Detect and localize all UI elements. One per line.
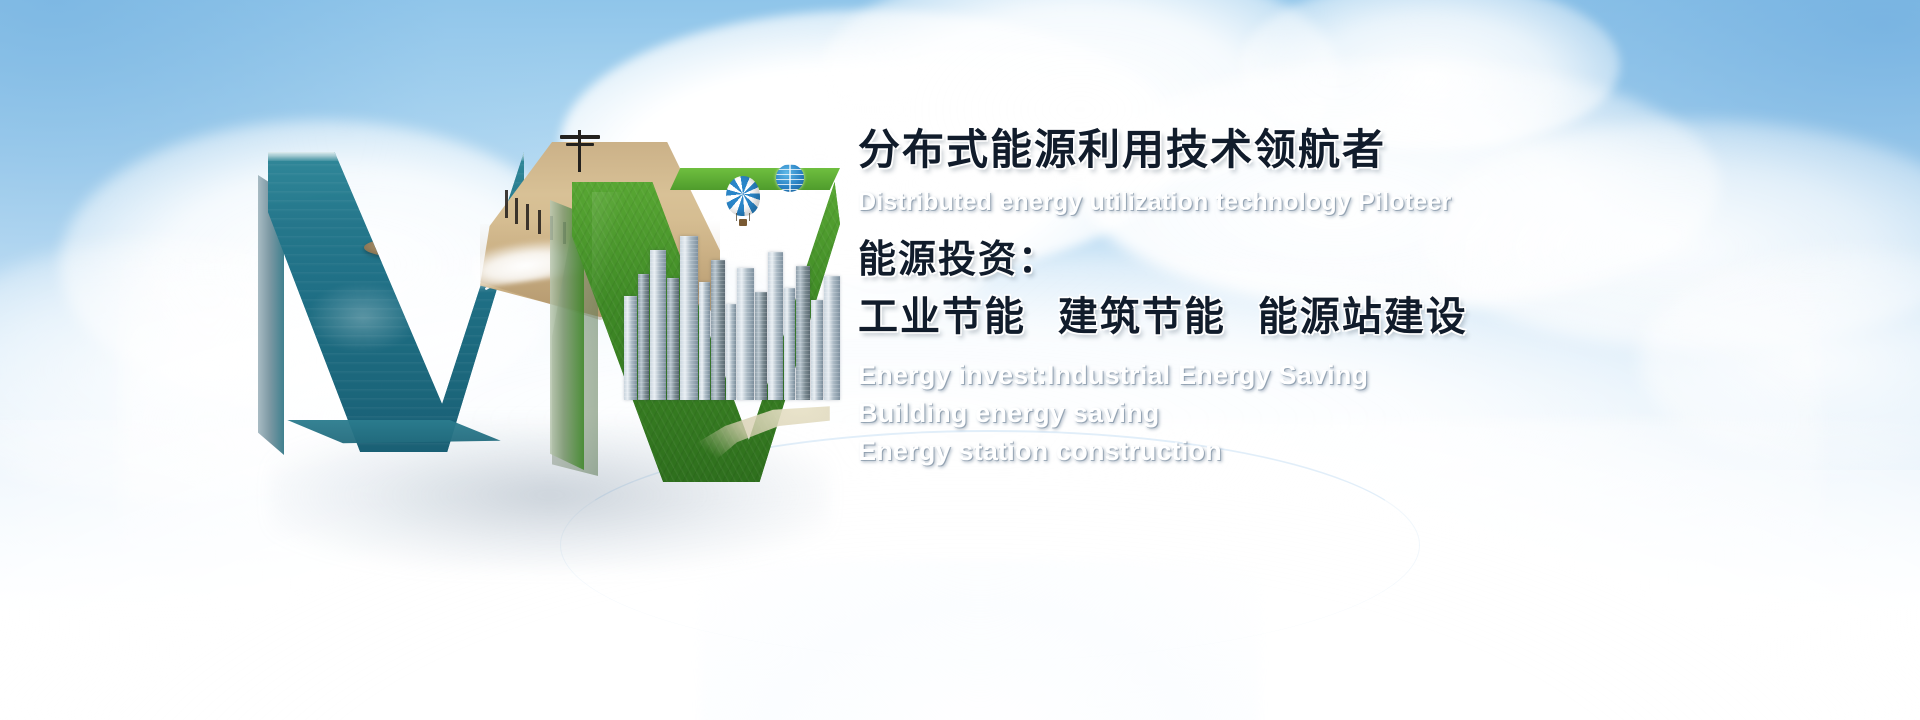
banner-copy-block: 分布式能源利用技术领航者 Distributed energy utilizat… bbox=[858, 126, 1868, 467]
seagull-icon bbox=[499, 344, 509, 349]
service-line-2-english: Building energy saving bbox=[858, 398, 1868, 429]
building-icon bbox=[726, 304, 736, 400]
power-pole-crossarm-icon bbox=[560, 135, 600, 139]
building-icon bbox=[796, 266, 810, 400]
hero-banner: 分布式能源利用技术领航者 Distributed energy utilizat… bbox=[0, 0, 1920, 720]
energy-investment-label: 能源投资： bbox=[858, 238, 1868, 281]
lighthouse-reflection bbox=[394, 260, 409, 294]
building-icon bbox=[824, 276, 840, 400]
city-skyline-group bbox=[620, 200, 850, 400]
building-icon bbox=[768, 252, 783, 400]
building-icon bbox=[755, 292, 767, 400]
left-v-ocean-fill bbox=[268, 152, 524, 452]
fence-post-icon bbox=[538, 210, 541, 234]
ocean-light-sheen bbox=[308, 282, 418, 352]
seagull-icon bbox=[394, 173, 405, 179]
building-icon bbox=[811, 300, 823, 400]
building-icon bbox=[680, 236, 698, 400]
building-icon bbox=[638, 274, 649, 400]
power-pole-crossarm-icon bbox=[566, 143, 594, 146]
lighthouse-lamp-icon bbox=[396, 180, 407, 191]
hot-air-balloon-icon bbox=[726, 176, 760, 216]
rocky-island bbox=[364, 238, 442, 257]
globe-icon bbox=[776, 164, 804, 192]
ocean-top-edge bbox=[268, 152, 524, 161]
lighthouse-tower-icon bbox=[396, 188, 407, 246]
building-icon bbox=[699, 282, 710, 400]
hot-air-balloon-basket bbox=[739, 219, 747, 226]
headline-chinese: 分布式能源利用技术领航者 bbox=[858, 126, 1868, 173]
building-icon bbox=[737, 268, 754, 400]
fence-post-icon bbox=[505, 190, 508, 218]
service-line-3-english: Energy station construction bbox=[858, 436, 1868, 467]
building-icon bbox=[667, 278, 679, 400]
building-icon bbox=[784, 288, 795, 400]
building-icon bbox=[650, 250, 666, 400]
letter-w-landscape-artwork bbox=[250, 120, 840, 520]
service-line-1-english: Energy invest:Industrial Energy Saving bbox=[858, 360, 1868, 391]
building-icon bbox=[624, 296, 637, 400]
subtitle-english: Distributed energy utilization technolog… bbox=[858, 188, 1868, 217]
fence-post-icon bbox=[515, 198, 518, 224]
seagull-icon bbox=[360, 181, 373, 187]
building-icon bbox=[711, 260, 725, 400]
fence-post-icon bbox=[526, 204, 529, 230]
services-list-chinese: 工业节能 建筑节能 能源站建设 bbox=[858, 295, 1868, 340]
